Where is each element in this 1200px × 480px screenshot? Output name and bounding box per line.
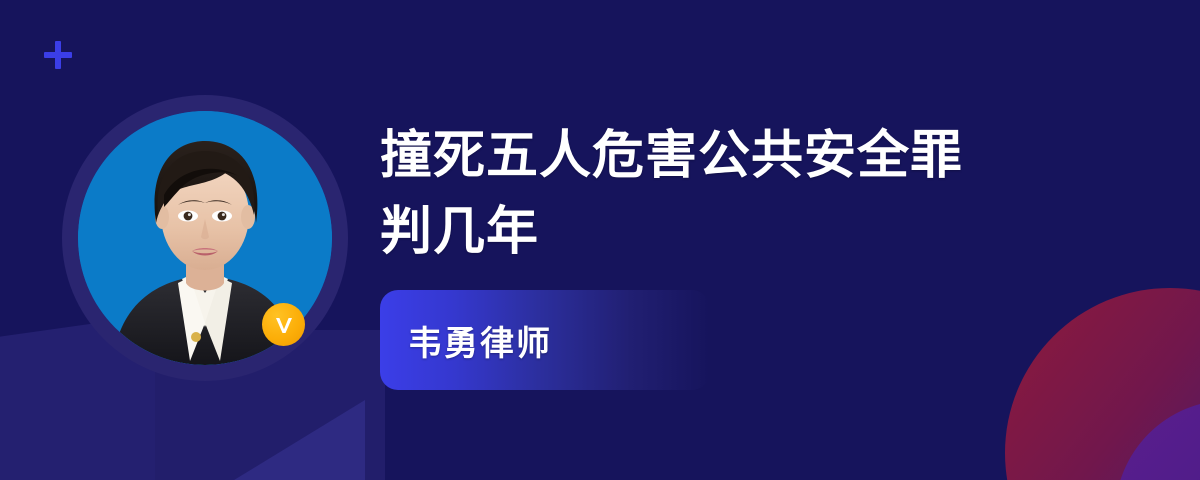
author-name-label: 韦勇律师 xyxy=(380,316,552,365)
headline-block: 撞死五人危害公共安全罪 判几年 xyxy=(380,118,1080,270)
plus-icon xyxy=(44,41,72,69)
page-title: 撞死五人危害公共安全罪 判几年 xyxy=(380,118,1080,270)
article-banner: 撞死五人危害公共安全罪 判几年 韦勇律师 xyxy=(0,0,1200,480)
author-name-badge[interactable]: 韦勇律师 xyxy=(380,290,710,390)
gradient-circle-inner xyxy=(1115,400,1200,480)
triangle-shape xyxy=(185,400,365,480)
verified-badge xyxy=(262,303,305,346)
plus-icon-bar-vertical xyxy=(55,41,61,69)
avatar[interactable] xyxy=(62,95,348,381)
gradient-circle-outer xyxy=(1005,288,1200,480)
